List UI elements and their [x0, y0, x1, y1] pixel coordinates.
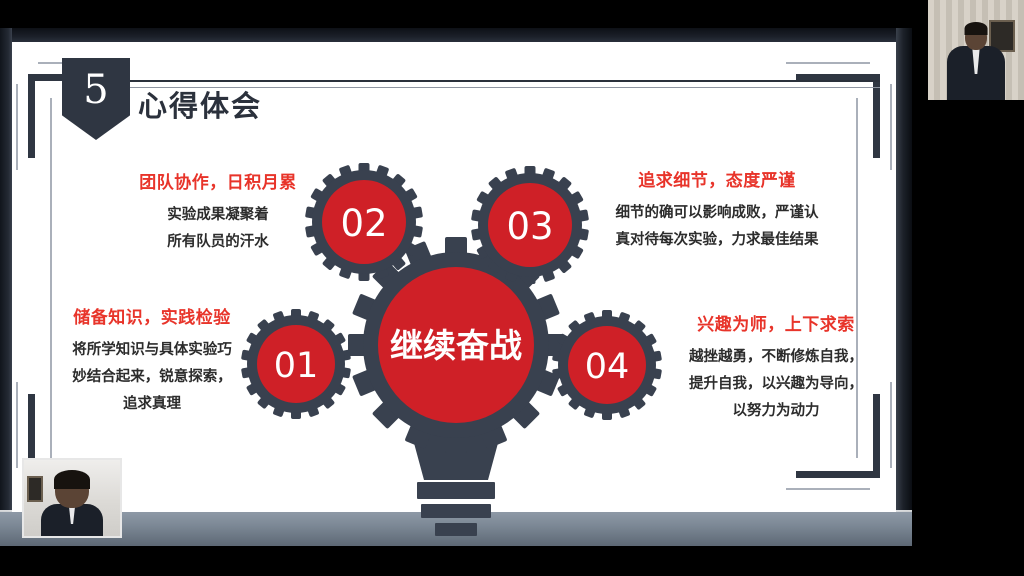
presenter-video-tile[interactable] — [928, 0, 1024, 100]
insight-line: 将所学知识与具体实验巧 — [48, 337, 256, 364]
insight-block-bottom-right: 兴趣为师，上下求索 越挫越勇，不断修炼自我， 提升自我，以兴趣为导向， 以努力为… — [676, 310, 876, 424]
insight-line: 越挫越勇，不断修炼自我， — [676, 344, 876, 371]
gear-number: 02 — [340, 202, 387, 245]
person-hair — [54, 470, 90, 489]
screen: 5 心得体会 团队协作，日积月累 实验成果凝聚着 所有队员的汗水 追求细节，态度… — [0, 0, 1024, 576]
gear-01: 01 — [241, 309, 351, 419]
slide-frame-left — [0, 28, 12, 518]
gear-number: 01 — [274, 346, 319, 386]
gear-number: 03 — [506, 205, 553, 248]
gear-lightbulb-diagram: 继续奋战 02 03 — [236, 160, 676, 546]
insight-line: 妙结合起来，锐意探索， — [48, 364, 256, 391]
insight-line: 以努力为动力 — [676, 398, 876, 425]
presentation-slide: 5 心得体会 团队协作，日积月累 实验成果凝聚着 所有队员的汗水 追求细节，态度… — [0, 28, 912, 546]
gear-number: 04 — [585, 347, 630, 387]
page-title: 心得体会 — [138, 83, 262, 125]
wall-picture — [27, 476, 43, 502]
participant-video-tile[interactable] — [22, 458, 122, 538]
slide-frame-top — [0, 28, 912, 42]
insight-heading: 兴趣为师，上下求索 — [676, 310, 876, 335]
insight-block-bottom-left: 储备知识，实践检验 将所学知识与具体实验巧 妙结合起来，锐意探索， 追求真理 — [48, 303, 256, 417]
insight-line: 追求真理 — [48, 391, 256, 418]
slide-frame-right — [896, 28, 912, 546]
section-number: 5 — [83, 70, 108, 110]
gear-02: 02 — [305, 163, 423, 281]
gear-04: 04 — [552, 310, 662, 420]
insight-heading: 储备知识，实践检验 — [48, 303, 256, 328]
center-gear-label: 继续奋战 — [390, 326, 522, 365]
person-hair — [965, 22, 988, 35]
insight-line: 提升自我，以兴趣为导向， — [676, 371, 876, 398]
